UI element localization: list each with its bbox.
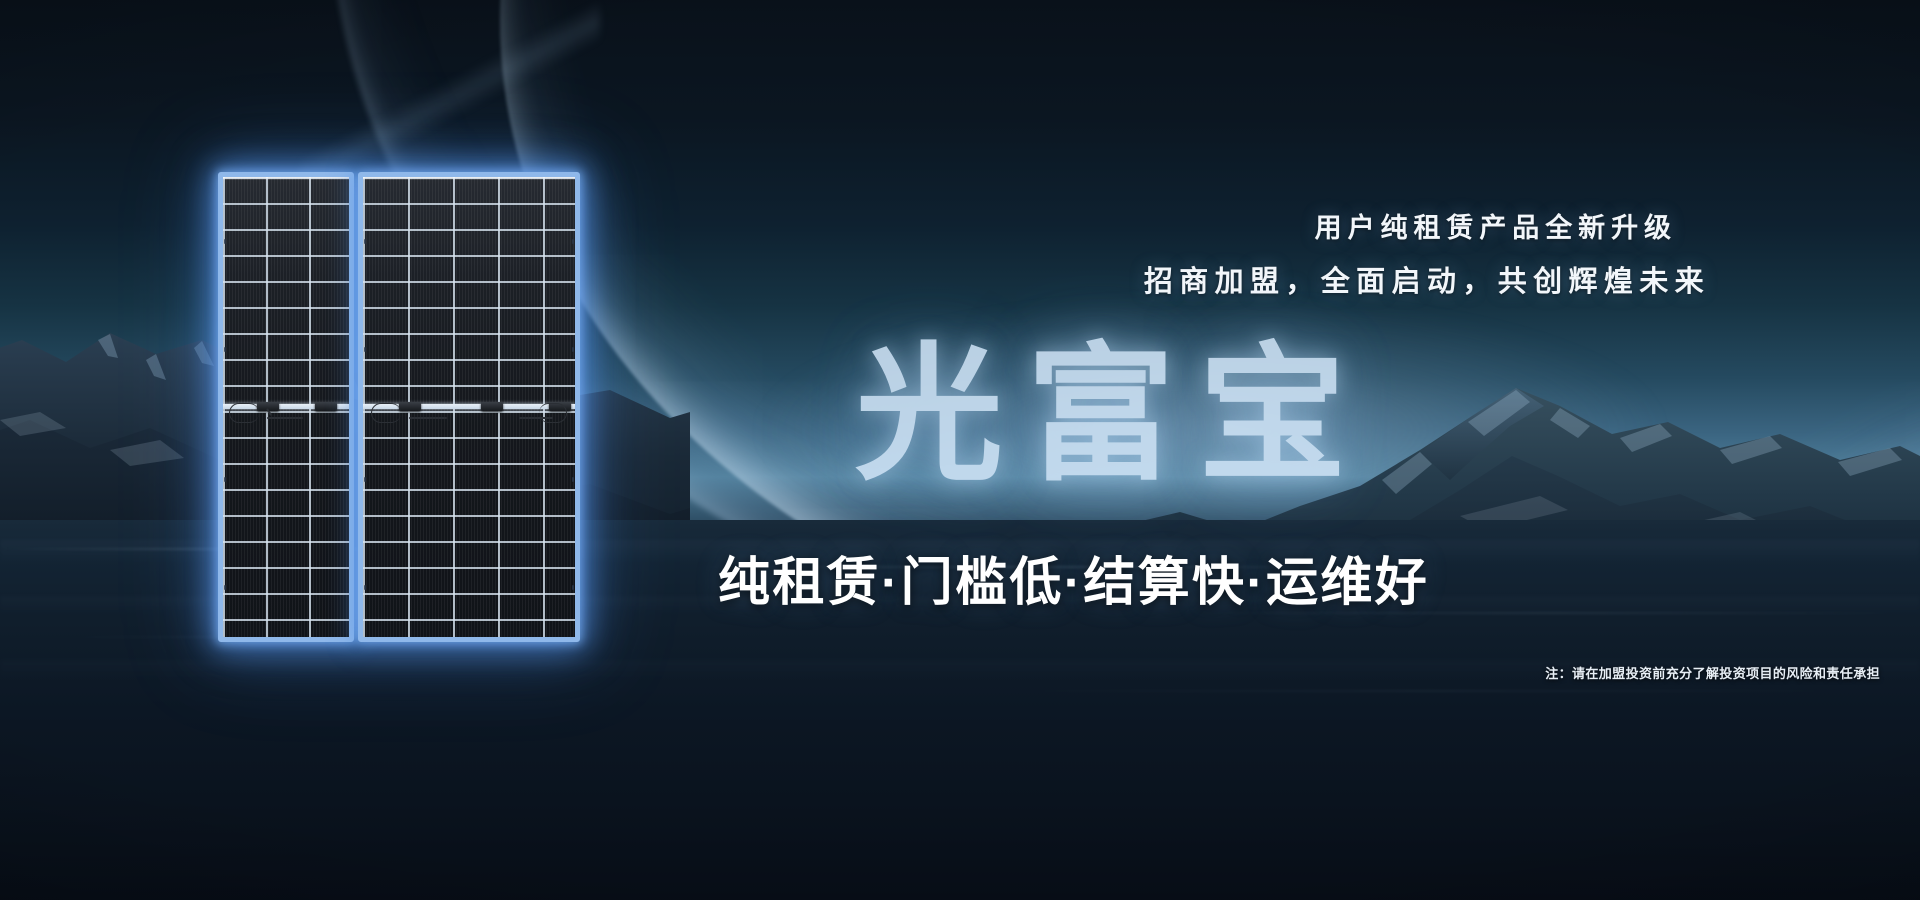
vignette-overlay: [0, 0, 1920, 900]
promo-banner: 用户纯租赁产品全新升级 招商加盟，全面启动，共创辉煌未来 光富宝 纯租赁·门槛低…: [0, 0, 1920, 900]
